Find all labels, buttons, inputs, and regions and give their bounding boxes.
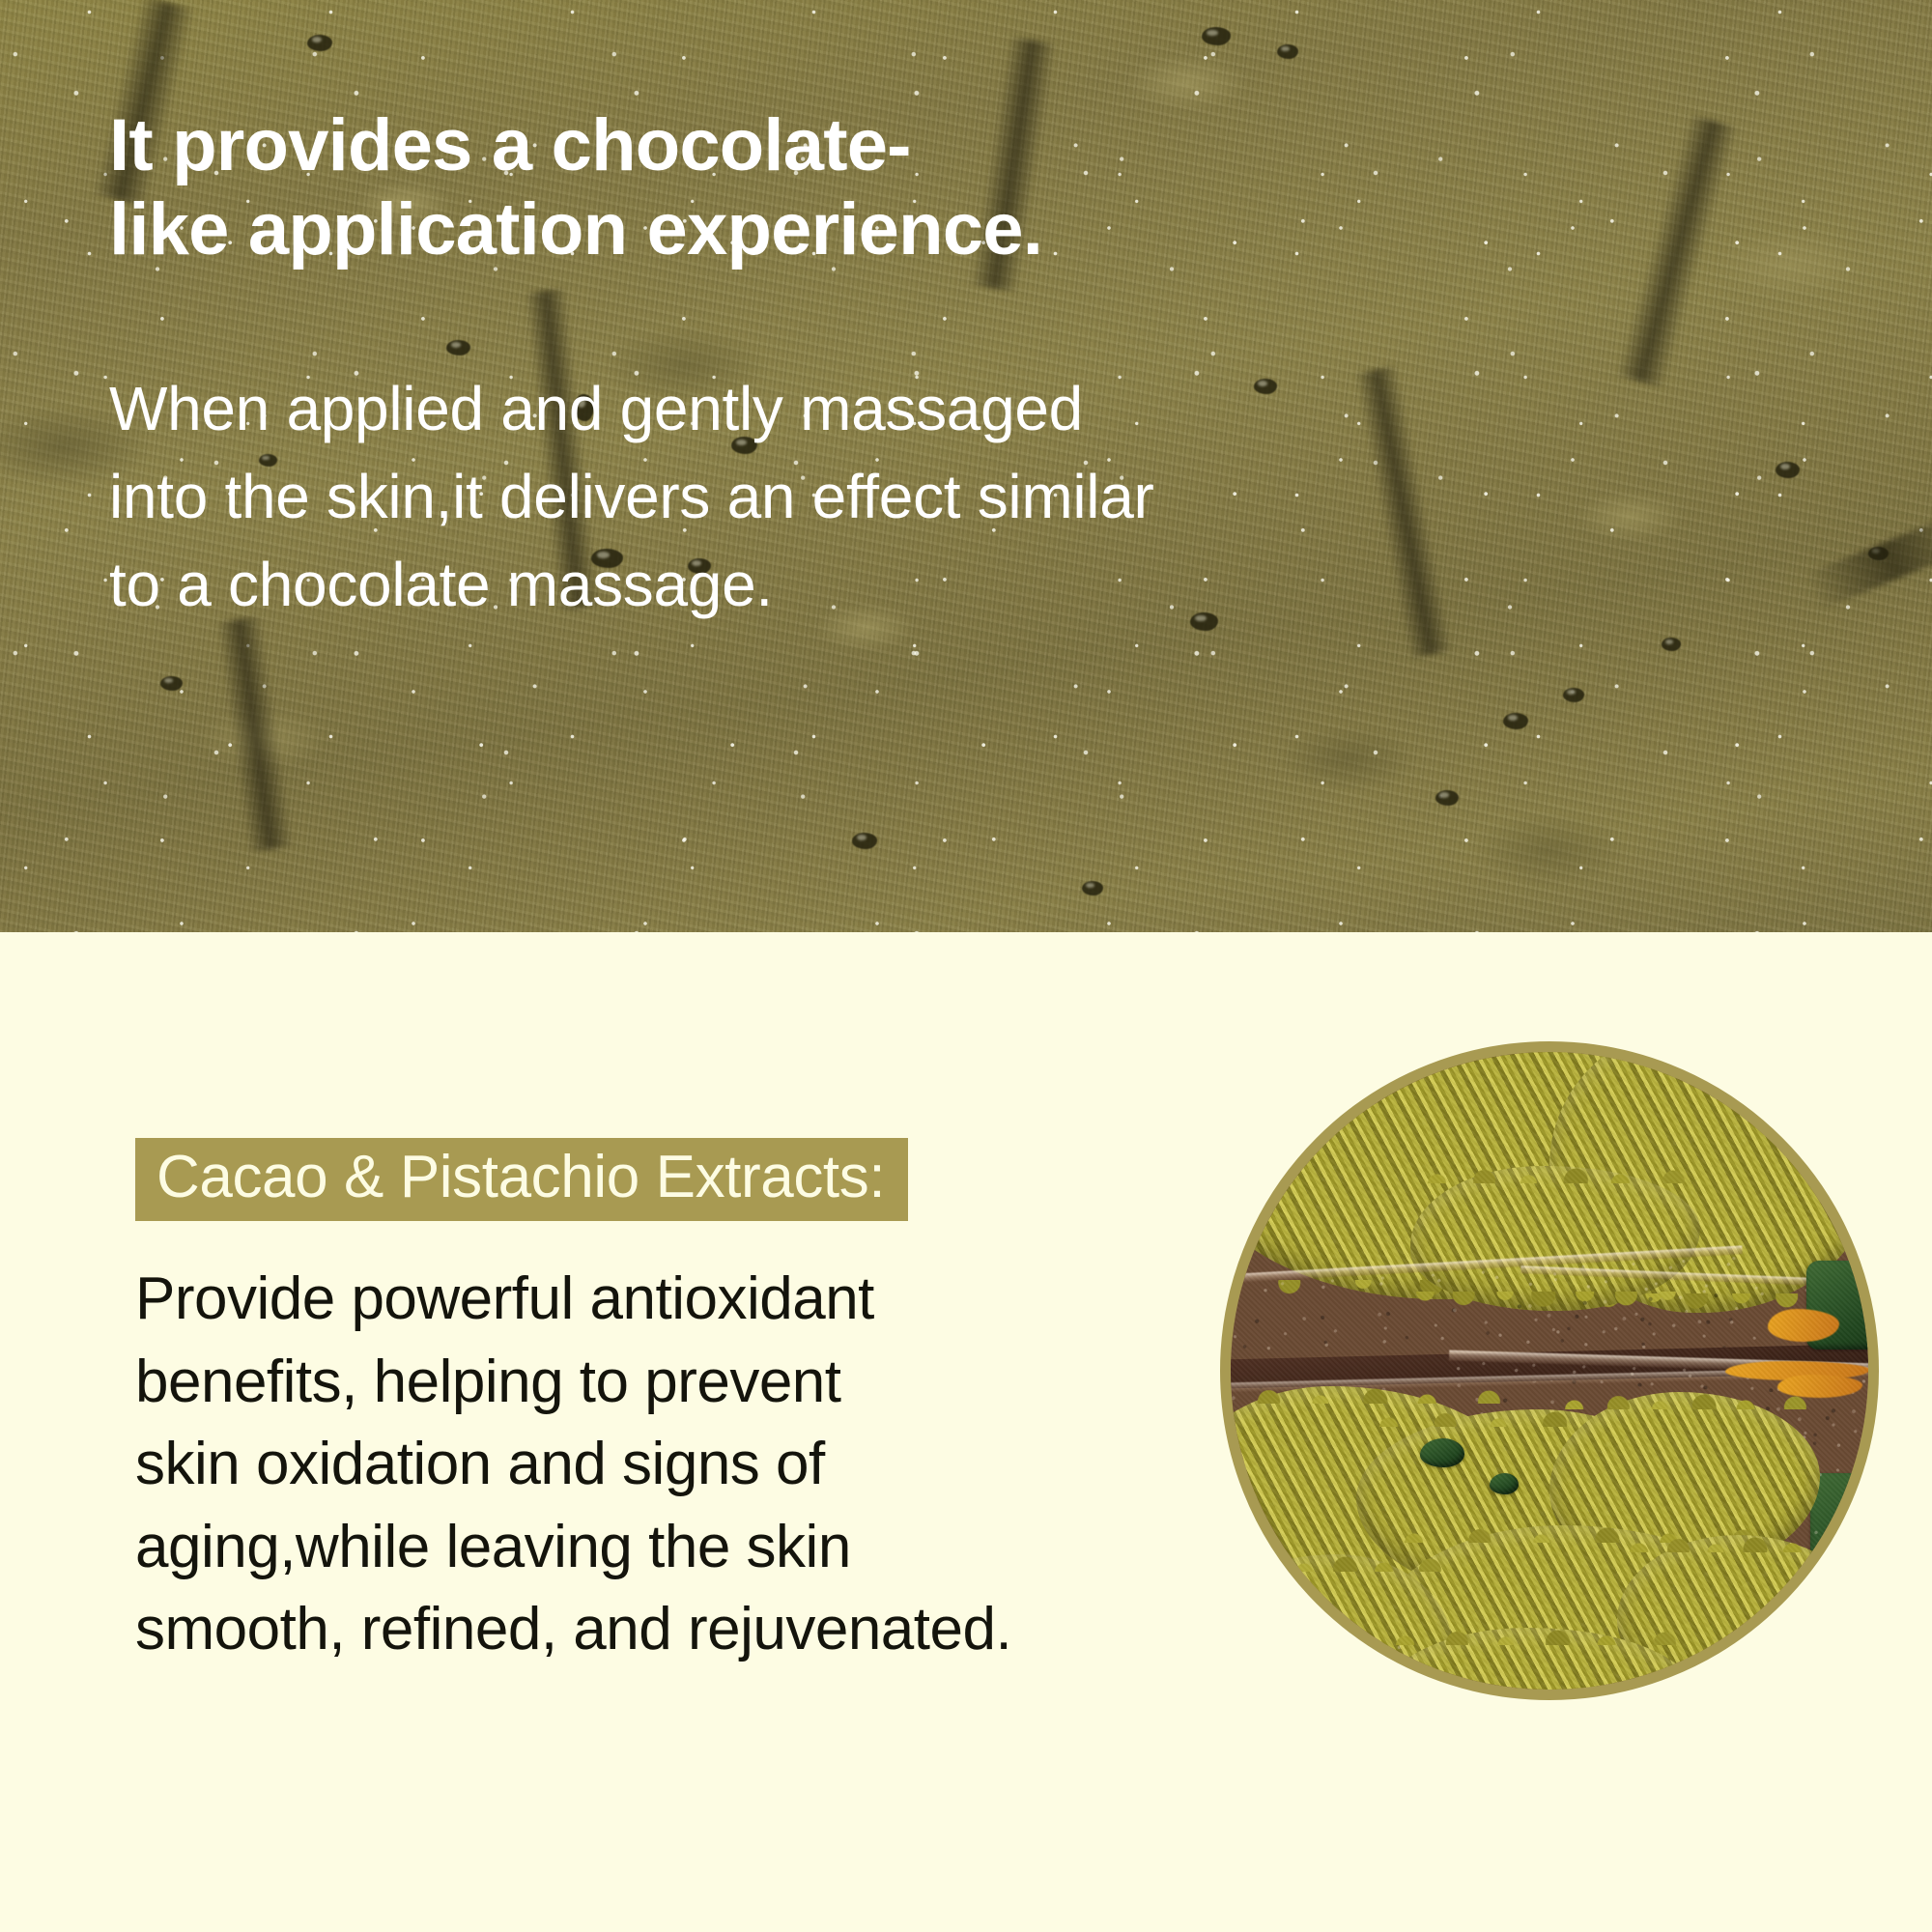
ingredient-title-label: Cacao & Pistachio Extracts:: [156, 1148, 885, 1207]
ingredient-title-banner: Cacao & Pistachio Extracts:: [135, 1138, 908, 1221]
product-photo-circle: [1220, 1041, 1879, 1700]
hero-description: When applied and gently massaged into th…: [109, 365, 1751, 629]
pistachio-filling-blob: [1376, 1628, 1694, 1690]
pistachio-kernel: [1420, 1438, 1464, 1467]
hero-section: It provides a chocolate- like applicatio…: [0, 0, 1932, 932]
pistachio-kernel: [1490, 1473, 1519, 1494]
ingredient-section: Cacao & Pistachio Extracts: Provide powe…: [0, 932, 1932, 1932]
chocolate-pistachio-photo: [1231, 1052, 1868, 1690]
ingredient-description: Provide powerful antioxidant benefits, h…: [135, 1258, 1169, 1671]
infographic-page: It provides a chocolate- like applicatio…: [0, 0, 1932, 1932]
page-title: It provides a chocolate- like applicatio…: [109, 104, 1616, 271]
